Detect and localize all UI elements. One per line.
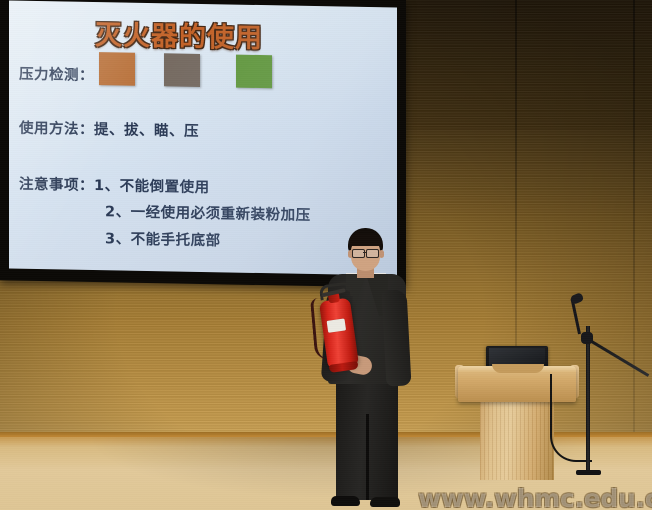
eyeglasses-bridge [363, 252, 367, 253]
pressure-swatch-grey [164, 53, 200, 87]
eyeglasses-icon [352, 249, 365, 258]
slide-note-line-3: 3、不能手托底部 [105, 227, 221, 250]
podium-desktop-notch [492, 364, 544, 373]
presenter-shoe-left [331, 496, 360, 506]
podium-wood-grain [480, 400, 554, 480]
slide-pressure-label: 压力检测： [19, 63, 94, 85]
slide-note-line-2: 2、一经使用必须重新装粉加压 [105, 200, 311, 225]
pressure-swatch-red [99, 52, 135, 86]
presenter-arm-right [382, 289, 412, 386]
presenter-leg-seam [366, 414, 369, 500]
pressure-swatch-green [236, 55, 272, 89]
presenter-ear-right [379, 250, 384, 258]
microphone-boom-arm [584, 336, 649, 377]
extinguisher-label [327, 318, 346, 332]
site-watermark: www.whmc.edu.cn [418, 484, 652, 510]
microphone-base [576, 470, 601, 475]
eyeglasses-icon [366, 249, 379, 258]
slide-note-line-1: 注意事项：1、不能倒置使用 [19, 173, 210, 197]
presenter-hair-fringe [349, 234, 382, 246]
screenshot-root: 灭火器的使用 压力检测： 使用方法：提、拔、瞄、压 注意事项：1、不能倒置使用 … [0, 0, 652, 510]
microphone-pole [586, 326, 590, 474]
microphone-stand [552, 296, 648, 478]
slide-method-line: 使用方法：提、拔、瞄、压 [19, 117, 199, 141]
presenter-shoe-right [370, 497, 400, 507]
slide-title: 灭火器的使用 [95, 13, 263, 55]
microphone-joint [581, 332, 593, 344]
